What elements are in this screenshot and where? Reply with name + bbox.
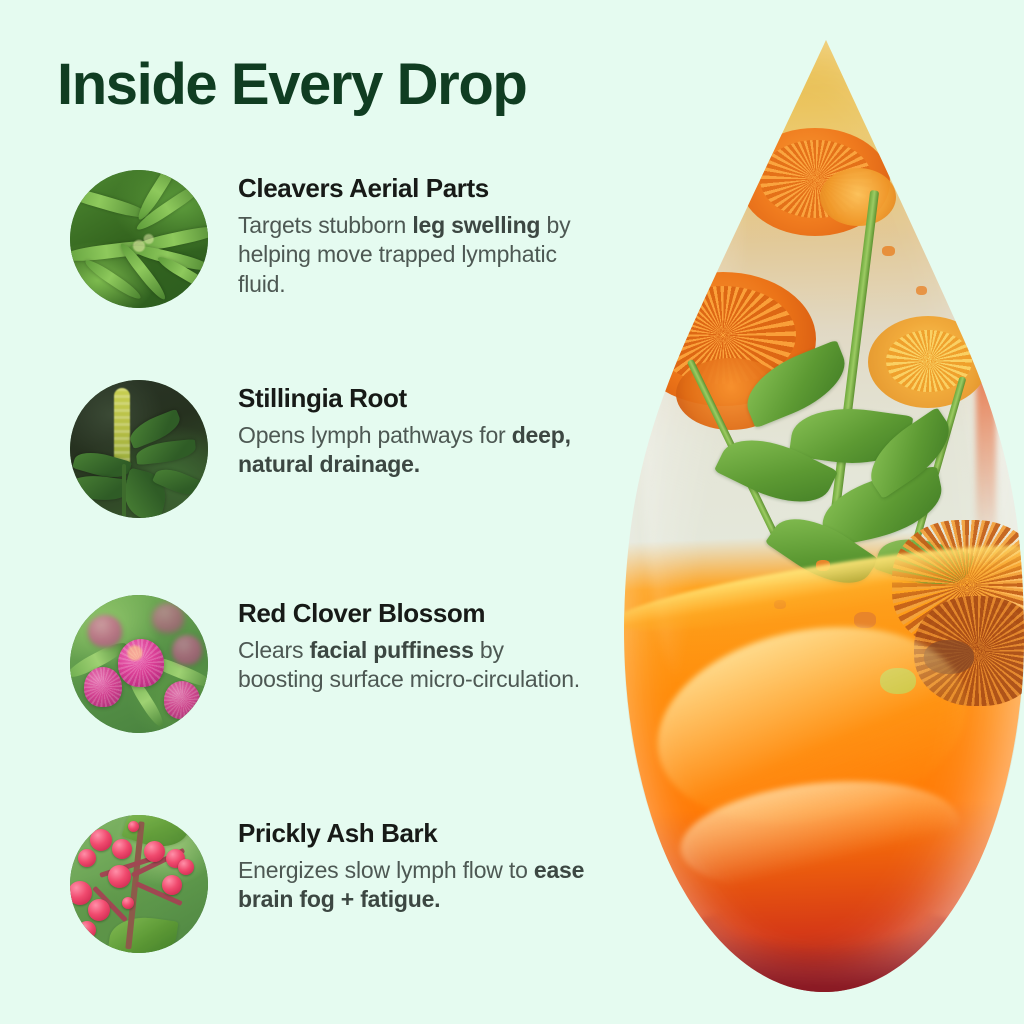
- ingredient-name: Prickly Ash Bark: [238, 819, 588, 849]
- drop-body: [624, 40, 1024, 992]
- ingredient-item-prickly-ash-bark: Prickly Ash Bark Energizes slow lymph fl…: [70, 815, 630, 953]
- ingredient-item-red-clover-blossom: Red Clover Blossom Clears facial puffine…: [70, 595, 630, 733]
- prickly-ash-thumbnail: [70, 815, 208, 953]
- cleavers-thumbnail: [70, 170, 208, 308]
- glass-edge-highlight: [976, 97, 996, 554]
- herbal-tincture-drop: [598, 0, 1024, 1024]
- ingredient-name: Red Clover Blossom: [238, 599, 588, 629]
- ingredient-item-cleavers-aerial-parts: Cleavers Aerial Parts Targets stubborn l…: [70, 170, 630, 308]
- ingredient-description: Energizes slow lymph flow to ease brain …: [238, 856, 588, 915]
- ingredient-name: Cleavers Aerial Parts: [238, 174, 588, 204]
- stillingia-thumbnail: [70, 380, 208, 518]
- ingredient-description: Opens lymph pathways for deep, natural d…: [238, 421, 588, 480]
- ingredient-item-stillingia-root: Stillingia Root Opens lymph pathways for…: [70, 380, 630, 518]
- page-title: Inside Every Drop: [57, 55, 526, 116]
- ingredient-description: Targets stubborn leg swelling by helping…: [238, 211, 588, 299]
- red-clover-thumbnail: [70, 595, 208, 733]
- ingredient-name: Stillingia Root: [238, 384, 588, 414]
- drop-bottom-rim: [640, 906, 1008, 1001]
- ingredient-description: Clears facial puffiness by boosting surf…: [238, 636, 588, 695]
